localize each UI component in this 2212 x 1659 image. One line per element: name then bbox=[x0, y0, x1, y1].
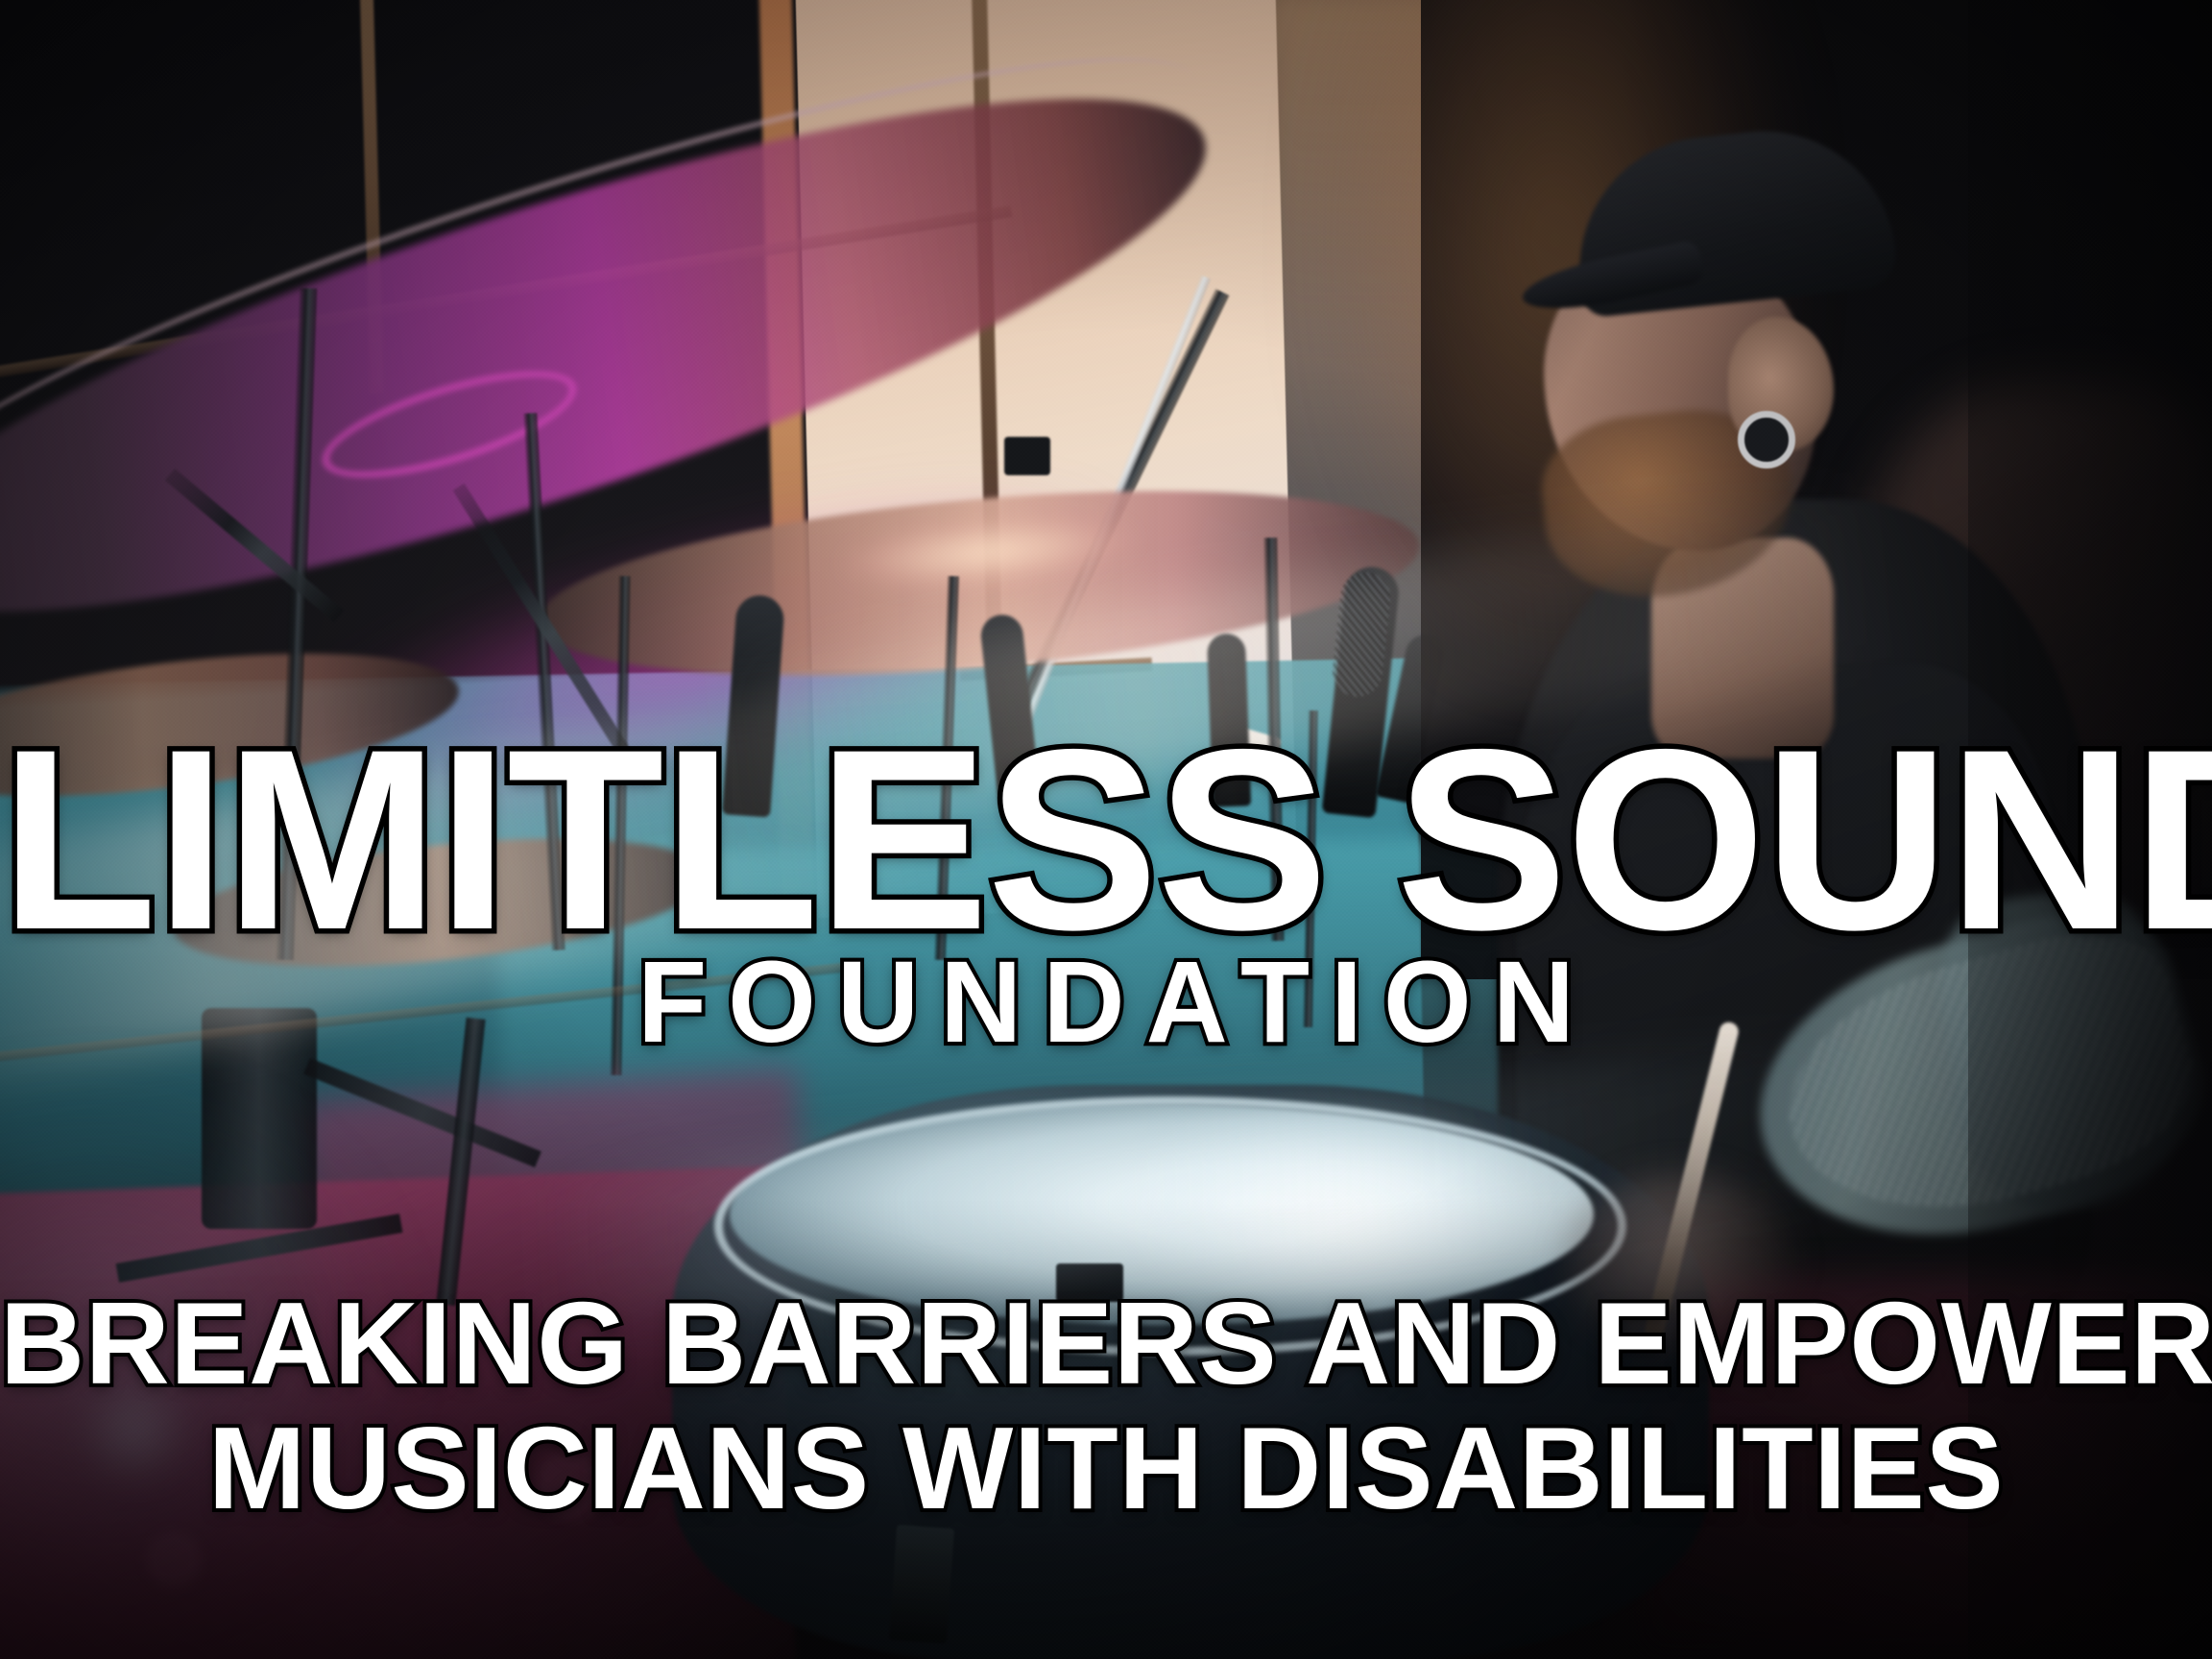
tagline-line-1: BREAKING BARRIERS AND EMPOWERING bbox=[0, 1285, 2212, 1402]
text-overlay: LIMITLESS SOUND FOUNDATION BREAKING BARR… bbox=[0, 0, 2212, 1659]
tagline-line-2: MUSICIANS WITH DISABILITIES bbox=[0, 1409, 2212, 1527]
organization-title: LIMITLESS SOUND bbox=[0, 710, 2212, 968]
organization-subtitle: FOUNDATION bbox=[0, 945, 2212, 1060]
promotional-title-card: LIMITLESS SOUND FOUNDATION BREAKING BARR… bbox=[0, 0, 2212, 1659]
